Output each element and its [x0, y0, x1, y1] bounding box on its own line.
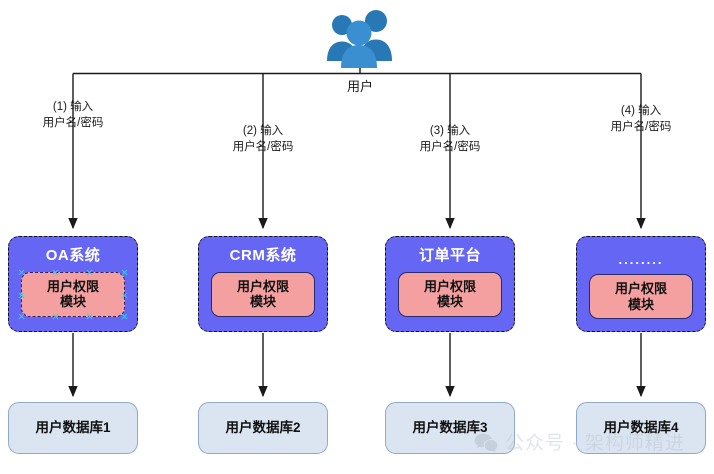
module-box-permissions-other[interactable]: 用户权限 模块 [589, 274, 693, 319]
flow-label-3: (3) 输入 用户名/密码 [385, 124, 515, 155]
resize-handle-ne[interactable] [121, 269, 128, 276]
resize-handle-s[interactable] [52, 313, 59, 320]
resize-handle-n[interactable] [52, 269, 59, 276]
module-label-oa-line2: 模块 [60, 294, 86, 309]
resize-handle-w[interactable] [18, 292, 25, 299]
resize-handle-se[interactable] [121, 313, 128, 320]
database-label-1: 用户数据库1 [35, 421, 110, 436]
system-box-order-platform[interactable]: 订单平台 用户权限 模块 [385, 236, 515, 332]
module-label-order-platform: 用户权限 模块 [424, 279, 476, 310]
database-box-1[interactable]: 用户数据库1 [8, 402, 138, 454]
module-box-permissions-oa[interactable]: 用户权限 模块 [21, 272, 125, 317]
flow-label-2-step: (2) 输入 [198, 124, 328, 140]
flow-label-4-credential: 用户名/密码 [576, 120, 706, 136]
resize-handle-n2[interactable] [86, 269, 93, 276]
actor-user[interactable]: 用户 [318, 6, 402, 94]
system-box-other[interactable]: ........ 用户权限 模块 [576, 236, 706, 332]
database-label-3: 用户数据库3 [412, 421, 487, 436]
system-box-crm[interactable]: CRM系统 用户权限 模块 [198, 236, 328, 332]
flow-label-1: (1) 输入 用户名/密码 [8, 100, 138, 131]
system-title-crm: CRM系统 [230, 248, 297, 265]
module-label-oa: 用户权限 模块 [47, 279, 99, 310]
module-label-order-platform-line2: 模块 [437, 294, 463, 309]
module-box-permissions-crm[interactable]: 用户权限 模块 [211, 272, 315, 317]
flow-label-1-step: (1) 输入 [8, 100, 138, 116]
database-box-4[interactable]: 用户数据库4 [576, 402, 706, 454]
module-label-crm-line2: 模块 [250, 294, 276, 309]
module-label-oa-line1: 用户权限 [47, 279, 99, 294]
diagram-canvas: 用户 (1) 输入 用户名/密码 (2) 输入 用户名/密码 (3) 输入 用户… [0, 0, 714, 474]
database-label-2: 用户数据库2 [225, 421, 300, 436]
module-label-other-line1: 用户权限 [615, 281, 667, 296]
database-label-4: 用户数据库4 [603, 421, 678, 436]
database-box-3[interactable]: 用户数据库3 [385, 402, 515, 454]
flow-label-3-step: (3) 输入 [385, 124, 515, 140]
module-label-other-line2: 模块 [628, 297, 654, 312]
flow-label-2-credential: 用户名/密码 [198, 140, 328, 156]
actor-label: 用户 [318, 80, 402, 94]
flow-label-3-credential: 用户名/密码 [385, 140, 515, 156]
module-label-other: 用户权限 模块 [615, 281, 667, 312]
system-box-oa[interactable]: OA系统 用户权限 模块 [8, 236, 138, 332]
system-title-oa: OA系统 [46, 248, 101, 265]
resize-handle-sw[interactable] [18, 313, 25, 320]
database-box-2[interactable]: 用户数据库2 [198, 402, 328, 454]
module-box-permissions-order-platform[interactable]: 用户权限 模块 [398, 272, 502, 317]
resize-handle-e[interactable] [121, 292, 128, 299]
module-label-order-platform-line1: 用户权限 [424, 279, 476, 294]
users-group-icon [324, 6, 396, 68]
flow-label-1-credential: 用户名/密码 [8, 116, 138, 132]
resize-handle-s2[interactable] [86, 313, 93, 320]
system-title-other: ........ [619, 253, 664, 267]
flow-label-2: (2) 输入 用户名/密码 [198, 124, 328, 155]
resize-handle-nw[interactable] [18, 269, 25, 276]
module-label-crm: 用户权限 模块 [237, 279, 289, 310]
flow-label-4-step: (4) 输入 [576, 104, 706, 120]
module-label-crm-line1: 用户权限 [237, 279, 289, 294]
flow-label-4: (4) 输入 用户名/密码 [576, 104, 706, 135]
system-title-order-platform: 订单平台 [419, 248, 481, 265]
